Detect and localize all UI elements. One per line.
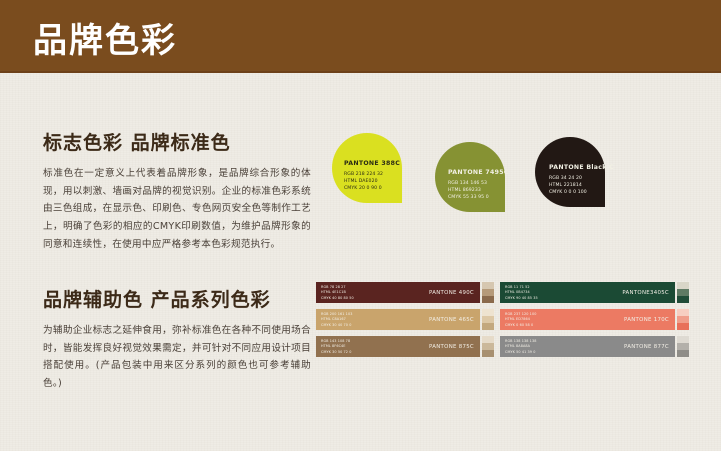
tint-strip bbox=[482, 282, 494, 303]
color-bar: RGB 143 108 78 HTML 8F6C4E CMYK 30 50 72… bbox=[316, 336, 480, 357]
header-underline bbox=[0, 71, 721, 73]
pantone-name: PANTONE 7495C bbox=[448, 169, 509, 176]
pantone-name: PANTONE 490C bbox=[429, 290, 474, 296]
cmyk-value: CMYK 50 41 39 0 bbox=[505, 350, 536, 355]
tint-strip bbox=[677, 309, 689, 330]
pantone-name: PANTONE Black C bbox=[549, 164, 614, 171]
color-bar: RGB 200 161 103 HTML C8A167 CMYK 30 40 7… bbox=[316, 309, 480, 330]
section-secondary-colors: 品牌辅助色 产品系列色彩 为辅助企业标志之延伸食用，弥补标准色在各种不同使用场合… bbox=[43, 285, 311, 393]
section-title: 品牌辅助色 产品系列色彩 bbox=[43, 285, 311, 312]
cmyk-value: CMYK 30 40 70 0 bbox=[321, 323, 352, 328]
color-bar: RGB 237 120 100 HTML ED7864 CMYK 0 60 58… bbox=[500, 309, 675, 330]
tint-strip bbox=[677, 282, 689, 303]
color-bar-row: RGB 11 71 52 HTML 0B4734 CMYK 90 40 85 3… bbox=[500, 282, 689, 303]
pantone-name: PANTONE3405C bbox=[622, 290, 669, 296]
color-info-block: PANTONE Black C RGB 34 24 20 HTML 221814… bbox=[549, 164, 614, 196]
color-bar: RGB 138 138 138 HTML 8A8A8A CMYK 50 41 3… bbox=[500, 336, 675, 357]
tint-strip bbox=[677, 336, 689, 357]
color-bar-row: RGB 200 161 103 HTML C8A167 CMYK 30 40 7… bbox=[316, 309, 494, 330]
tint-strip bbox=[482, 336, 494, 357]
section-title: 标志色彩 品牌标准色 bbox=[43, 128, 311, 155]
rgb-value: RGB 34 24 20 bbox=[549, 175, 614, 182]
cmyk-value: CMYK 0 60 58 0 bbox=[505, 323, 536, 328]
secondary-color-group-left: RGB 78 28 27 HTML 4E1C1B CMYK 40 80 80 5… bbox=[316, 282, 494, 363]
tint-strip bbox=[482, 309, 494, 330]
rgb-value: RGB 218 224 32 bbox=[344, 171, 400, 178]
color-bar-row: RGB 237 120 100 HTML ED7864 CMYK 0 60 58… bbox=[500, 309, 689, 330]
page-title: 品牌色彩 bbox=[33, 13, 177, 62]
cmyk-value: CMYK 55 33 95 0 bbox=[448, 194, 509, 201]
color-bar-row: RGB 143 108 78 HTML 8F6C4E CMYK 30 50 72… bbox=[316, 336, 494, 357]
color-info-block: PANTONE 388C RGB 218 224 32 HTML DAE020 … bbox=[344, 160, 400, 192]
cmyk-value: CMYK 20 0 90 0 bbox=[344, 185, 400, 192]
pantone-name: PANTONE 170C bbox=[624, 317, 669, 323]
cmyk-value: CMYK 0 0 0 100 bbox=[549, 189, 614, 196]
color-info-block: PANTONE 7495C RGB 134 146 53 HTML 869233… bbox=[448, 169, 509, 201]
html-value: HTML 221814 bbox=[549, 182, 614, 189]
section-standard-colors: 标志色彩 品牌标准色 标准色在一定意义上代表着品牌形象，是品牌综合形象的体现，用… bbox=[43, 128, 311, 254]
section-body: 标准色在一定意义上代表着品牌形象，是品牌综合形象的体现，用以刺激、墙画对品牌的视… bbox=[43, 165, 311, 254]
rgb-value: RGB 134 146 53 bbox=[448, 180, 509, 187]
color-bar: RGB 78 28 27 HTML 4E1C1B CMYK 40 80 80 5… bbox=[316, 282, 480, 303]
color-bar-row: RGB 138 138 138 HTML 8A8A8A CMYK 50 41 3… bbox=[500, 336, 689, 357]
cmyk-value: CMYK 40 80 80 50 bbox=[321, 296, 354, 301]
html-value: HTML 869233 bbox=[448, 187, 509, 194]
html-value: HTML DAE020 bbox=[344, 178, 400, 185]
color-bar: RGB 11 71 52 HTML 0B4734 CMYK 90 40 85 3… bbox=[500, 282, 675, 303]
pantone-name: PANTONE 465C bbox=[429, 317, 474, 323]
pantone-name: PANTONE 875C bbox=[429, 344, 474, 350]
cmyk-value: CMYK 90 40 85 35 bbox=[505, 296, 538, 301]
section-body: 为辅助企业标志之延伸食用，弥补标准色在各种不同使用场合时，皆能发挥良好视觉效果需… bbox=[43, 322, 311, 393]
pantone-name: PANTONE 877C bbox=[624, 344, 669, 350]
secondary-color-group-right: RGB 11 71 52 HTML 0B4734 CMYK 90 40 85 3… bbox=[500, 282, 689, 363]
primary-color-group: PANTONE 388C RGB 218 224 32 HTML DAE020 … bbox=[330, 128, 650, 223]
color-bar-row: RGB 78 28 27 HTML 4E1C1B CMYK 40 80 80 5… bbox=[316, 282, 494, 303]
page-header: 品牌色彩 bbox=[0, 0, 721, 71]
pantone-name: PANTONE 388C bbox=[344, 160, 400, 167]
cmyk-value: CMYK 30 50 72 0 bbox=[321, 350, 352, 355]
